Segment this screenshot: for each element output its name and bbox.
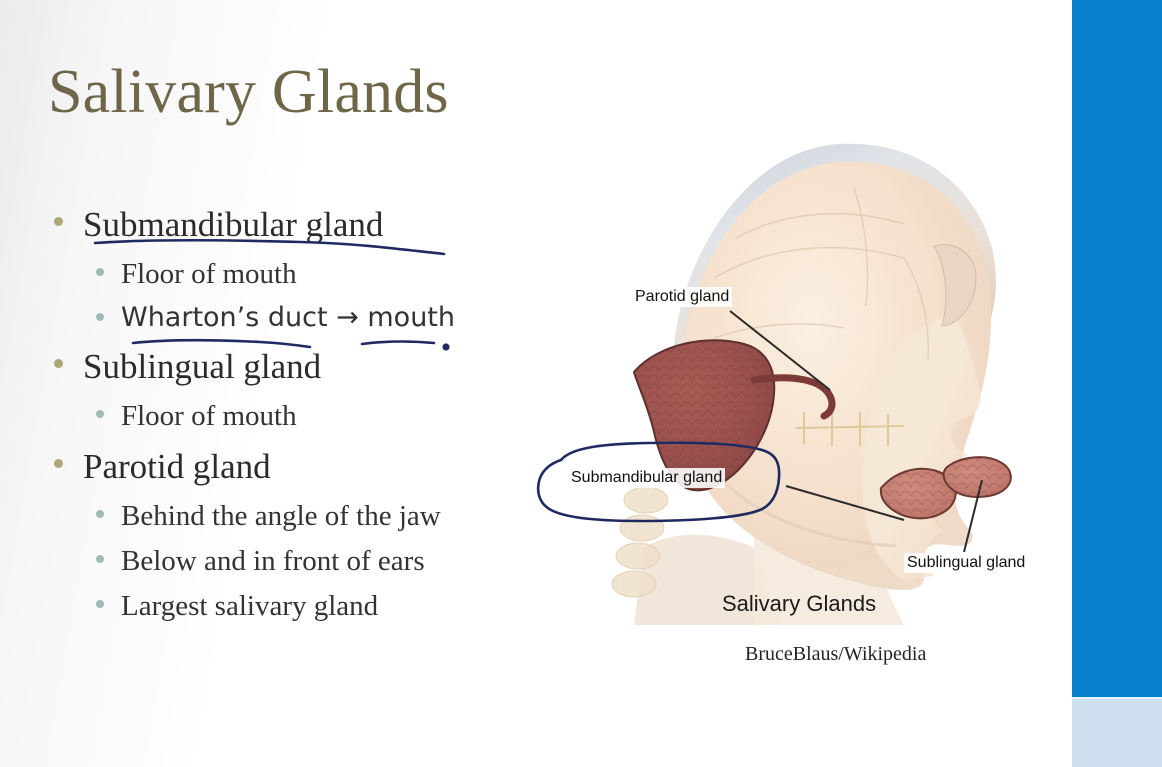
bullet-item-whartons-duct: Wharton’s duct → mouth — [96, 297, 574, 338]
bullet-item-behind-angle-of-jaw: Behind the angle of the jaw — [96, 494, 574, 538]
bullet-item-submandibular-gland: Submandibular gland — [54, 199, 574, 251]
bullet-item-parotid-gland: Parotid gland — [54, 441, 574, 493]
content-bullet-list: Submandibular gland Floor of mouth Whart… — [54, 196, 574, 629]
figure-label-sublingual: Sublingual gland — [904, 553, 1028, 573]
bullet-label: Behind the angle of the jaw — [121, 494, 441, 538]
right-accent-bar — [1072, 0, 1162, 697]
bullet-label: Parotid gland — [83, 441, 271, 493]
bullet-item-floor-of-mouth-2: Floor of mouth — [96, 394, 574, 438]
anatomy-figure: Parotid gland Submandibular gland Sublin… — [604, 128, 1052, 625]
bullet-item-below-in-front-of-ears: Below and in front of ears — [96, 539, 574, 583]
bullet-marker — [96, 410, 104, 418]
figure-label-parotid: Parotid gland — [632, 287, 732, 307]
slide-canvas: Salivary Glands — [0, 0, 1162, 767]
bullet-marker — [54, 217, 63, 226]
bullet-label: Sublingual gland — [83, 341, 321, 393]
bullet-label: Below and in front of ears — [121, 539, 425, 583]
bullet-label: Floor of mouth — [121, 252, 297, 296]
bullet-label: Largest salivary gland — [121, 584, 378, 628]
bullet-marker — [54, 359, 63, 368]
figure-label-submandibular: Submandibular gland — [568, 468, 725, 488]
bullet-item-sublingual-gland: Sublingual gland — [54, 341, 574, 393]
bullet-marker — [96, 600, 104, 608]
page-title: Salivary Glands — [48, 58, 449, 126]
bullet-item-largest-salivary-gland: Largest salivary gland — [96, 584, 574, 628]
bullet-marker — [96, 268, 104, 276]
bullet-label: Wharton’s duct → mouth — [121, 297, 455, 338]
figure-caption: Salivary Glands — [722, 591, 876, 617]
right-accent-bar-light — [1072, 699, 1162, 767]
bullet-label: Floor of mouth — [121, 394, 297, 438]
bullet-marker — [96, 510, 104, 518]
head-anatomy-illustration — [604, 128, 1052, 625]
bullet-item-floor-of-mouth-1: Floor of mouth — [96, 252, 574, 296]
bullet-label: Submandibular gland — [83, 199, 383, 251]
figure-credit: BruceBlaus/Wikipedia — [745, 643, 926, 666]
bullet-marker — [54, 459, 63, 468]
bullet-marker — [96, 313, 104, 321]
bullet-marker — [96, 555, 104, 563]
